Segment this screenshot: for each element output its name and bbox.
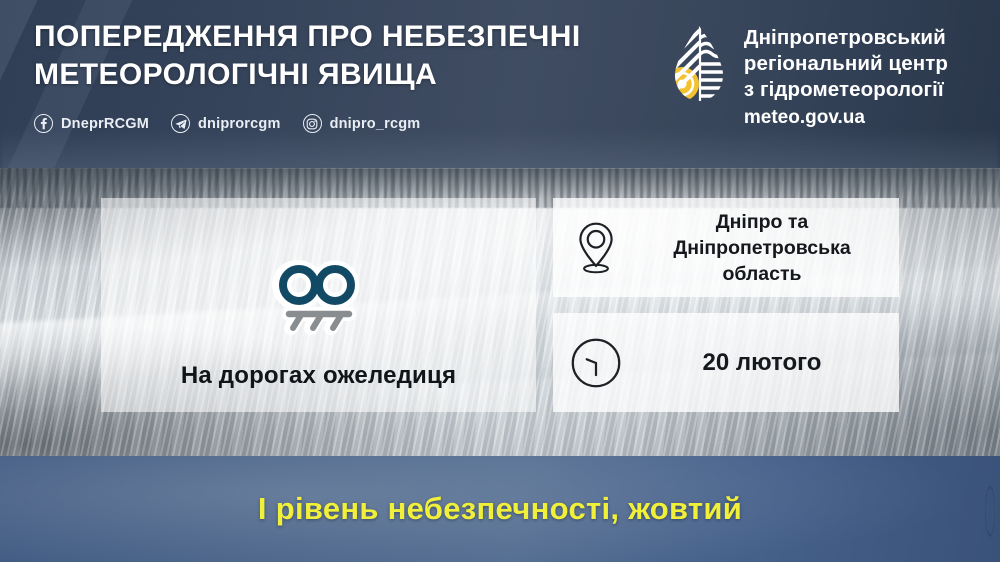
brand-website[interactable]: meteo.gov.ua [744,105,948,131]
telegram-icon [171,114,190,133]
black-ice-icon [263,246,375,338]
location-panel: Дніпро та Дніпропетровська область [553,198,899,297]
header-band: ПОПЕРЕДЖЕННЯ ПРО НЕБЕЗПЕЧНІ МЕТЕОРОЛОГІЧ… [0,0,1000,168]
location-line-1: Дніпро та [716,211,809,233]
brand-line-2: регіональний центр [744,51,948,77]
facebook-icon [34,114,53,133]
hazard-label: На дорогах ожеледиця [181,362,456,390]
brand-name: Дніпропетровський регіональний центр з г… [744,24,948,131]
hazard-card: На дорогах ожеледиця [101,198,536,412]
social-link-instagram[interactable]: dnipro_rcgm [303,114,421,133]
facebook-handle: DneprRCGM [61,116,149,132]
title-line-1: ПОПЕРЕДЖЕННЯ ПРО НЕБЕЗПЕЧНІ [34,18,654,56]
title-line-2: МЕТЕОРОЛОГІЧНІ ЯВИЩА [34,56,654,94]
date-text: 20 лютого [639,350,899,376]
danger-level-text: І рівень небезпечності, жовтий [258,491,742,527]
weather-warning-poster: ПОПЕРЕДЖЕННЯ ПРО НЕБЕЗПЕЧНІ МЕТЕОРОЛОГІЧ… [0,0,1000,562]
map-pin-icon [553,220,639,275]
clock-icon [553,337,639,389]
brand-line-1: Дніпропетровський [744,25,948,51]
instagram-icon [303,114,322,133]
footer-band: І рівень небезпечності, жовтий [0,456,1000,562]
hydrometeorology-droplet-logo [670,24,728,104]
date-panel: 20 лютого [553,313,899,412]
social-link-facebook[interactable]: DneprRCGM [34,114,149,133]
page-title: ПОПЕРЕДЖЕННЯ ПРО НЕБЕЗПЕЧНІ МЕТЕОРОЛОГІЧ… [34,18,654,94]
telegram-handle: dniprorcgm [198,116,281,132]
instagram-handle: dnipro_rcgm [330,116,421,132]
social-link-telegram[interactable]: dniprorcgm [171,114,281,133]
social-links: DneprRCGM dniprorcgm d [34,114,420,133]
brand-line-3: з гідрометеорології [744,77,948,103]
location-line-2: Дніпропетровська область [639,235,885,287]
brand-block: Дніпропетровський регіональний центр з г… [670,24,948,131]
location-text: Дніпро та Дніпропетровська область [639,209,899,287]
